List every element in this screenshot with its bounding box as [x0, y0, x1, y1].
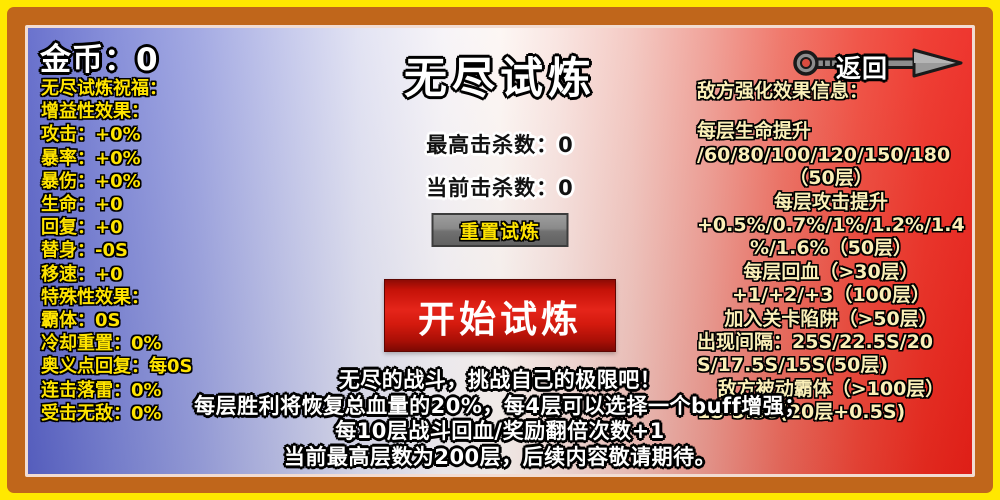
- blessing-stat-row: 增益性效果：: [41, 100, 271, 123]
- start-trial-button[interactable]: 开始试炼: [384, 279, 616, 352]
- description-row: 当前最高层数为200层，后续内容敬请期待。: [28, 445, 972, 471]
- enemy-buff-row: %/1.6%（50层）: [697, 237, 965, 260]
- blessing-stat-row: 特殊性效果：: [41, 286, 271, 309]
- return-button[interactable]: 返回: [788, 43, 966, 83]
- enemy-buff-row: +1/+2/+3（100层）: [697, 284, 965, 307]
- description-text: 无尽的战斗，挑战自己的极限吧！每层胜利将恢复总血量的20%，每4层可以选择一个b…: [28, 368, 972, 470]
- window-bevel: 金币：0 无尽试炼 返回: [25, 25, 975, 477]
- reset-trial-button[interactable]: 重置试炼: [432, 213, 569, 247]
- best-kill-count: 最高击杀数：0: [28, 129, 972, 159]
- enemy-buff-row: 出现间隔：25S/22.5S/20: [697, 331, 965, 354]
- blessing-stat-row: 无尽试炼祝福：: [41, 77, 271, 100]
- blessing-stat-row: 替身：-0S: [41, 239, 271, 262]
- enemy-buff-row: 每层回血（>30层）: [697, 261, 965, 284]
- description-row: 每层胜利将恢复总血量的20%，每4层可以选择一个buff增强；: [28, 394, 972, 420]
- description-row: 每10层战斗回血/奖励翻倍次数+1: [28, 419, 972, 445]
- description-row: 无尽的战斗，挑战自己的极限吧！: [28, 368, 972, 394]
- blessing-stat-row: 霸体：0S: [41, 309, 271, 332]
- window-frame: 金币：0 无尽试炼 返回: [7, 7, 993, 493]
- blessing-stat-row: 回复：+0: [41, 216, 271, 239]
- enemy-buff-header: 敌方强化效果信息：: [697, 80, 965, 103]
- enemy-buff-row: 加入关卡陷阱（>50层）: [697, 308, 965, 331]
- game-screen: 金币：0 无尽试炼 返回: [0, 0, 1000, 500]
- current-kill-count: 当前击杀数：0: [28, 172, 972, 202]
- endless-trial-panel: 金币：0 无尽试炼 返回: [28, 28, 972, 474]
- blessing-stat-row: 冷却重置：0%: [41, 332, 271, 355]
- reset-trial-button-label: 重置试炼: [460, 217, 540, 244]
- start-trial-button-label: 开始试炼: [418, 289, 582, 343]
- blessing-stat-row: 移速：+0: [41, 263, 271, 286]
- enemy-buff-row: +0.5%/0.7%/1%/1.2%/1.4: [697, 214, 965, 237]
